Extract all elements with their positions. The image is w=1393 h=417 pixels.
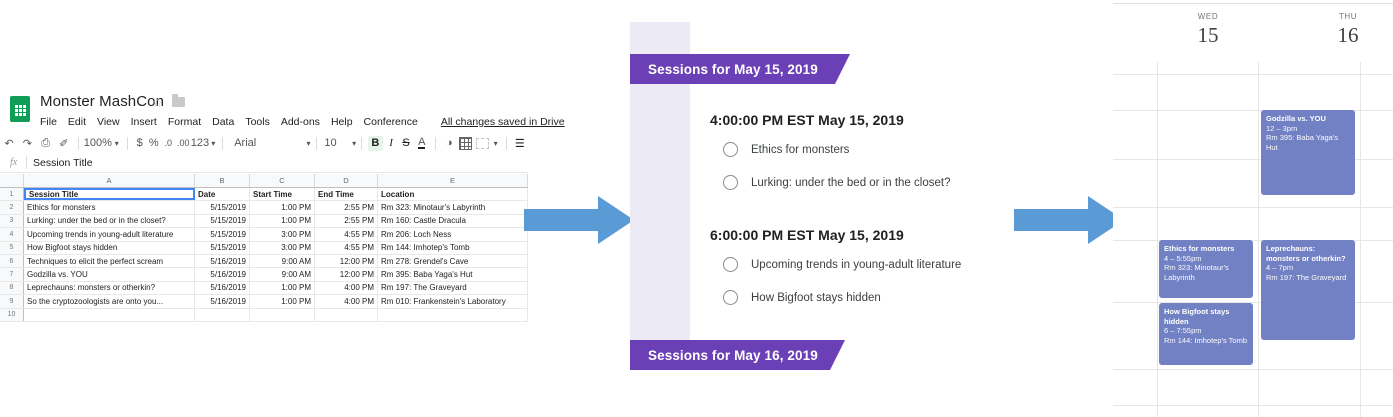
text-color-button[interactable]: A [418,137,425,149]
cell-end-time[interactable]: 12:00 PM [315,255,378,267]
row-number[interactable]: 7 [0,268,24,280]
sheets-toolbar: ↶ ↷ ⎙ ✐ 100% ▾ $ % .0 .00 123 ▾ Arial ▾ … [0,132,528,154]
form-option[interactable]: How Bigfoot stays hidden [710,290,961,305]
cell-start-time[interactable]: 1:00 PM [250,215,315,227]
form-question-group-4pm: 4:00:00 PM EST May 15, 2019 Ethics for m… [710,112,950,208]
cell-date[interactable]: 5/16/2019 [195,282,250,294]
cell-location[interactable]: Rm 206: Loch Ness [378,228,528,240]
cell-end-time[interactable]: 2:55 PM [315,215,378,227]
table-row[interactable]: 8Leprechauns: monsters or otherkin?5/16/… [0,282,528,295]
cell-start-time-header[interactable]: Start Time [250,188,315,200]
menu-item-insert[interactable]: Insert [131,116,157,128]
toolbar-divider [361,137,362,150]
row-number[interactable]: 6 [0,255,24,267]
cell-start-time[interactable]: 3:00 PM [250,242,315,254]
increase-decimal-button[interactable]: .00 [176,134,191,152]
row-number[interactable]: 5 [0,242,24,254]
flow-arrow-sheets-to-form [524,196,634,244]
cell-end-time[interactable]: 12:00 PM [315,268,378,280]
cell-empty[interactable] [250,309,315,321]
table-row[interactable]: 5How Bigfoot stays hidden5/15/20193:00 P… [0,242,528,255]
fill-color-icon[interactable]: ◑ [441,134,458,152]
event-location: Rm 197: The Graveyard [1266,273,1350,283]
cell-session-title[interactable]: Techniques to elicit the perfect scream [24,255,195,267]
cell-session-title[interactable]: Lurking: under the bed or in the closet? [24,215,195,227]
row-number[interactable]: 4 [0,228,24,240]
arrow-shaft [524,209,600,231]
form-section-title: Sessions for May 16, 2019 [630,348,818,363]
calendar-event[interactable]: Ethics for monsters 4 – 5:55pm Rm 323: M… [1159,240,1253,298]
table-row[interactable]: 10 [0,309,528,322]
table-row[interactable]: 4Upcoming trends in young-adult literatu… [0,228,528,241]
table-row[interactable]: 6Techniques to elicit the perfect scream… [0,255,528,268]
calendar-day-header-wed[interactable]: WED 15 [1158,12,1258,48]
table-row[interactable]: 9So the cryptozoologists are onto you...… [0,295,528,308]
toolbar-divider [222,137,223,150]
arrow-shaft [1014,209,1090,231]
cell-start-time[interactable]: 1:00 PM [250,201,315,213]
calendar-day-divider [1157,62,1158,417]
form-option-label[interactable]: Lurking: under the bed or in the closet? [751,177,950,189]
cell-start-time[interactable]: 1:00 PM [250,295,315,307]
cell-end-time[interactable]: 4:55 PM [315,228,378,240]
cell-location[interactable]: Rm 197: The Graveyard [378,282,528,294]
toolbar-divider [78,137,79,150]
form-section-header-may-16: Sessions for May 16, 2019 [630,340,830,370]
cell-location[interactable]: Rm 010: Frankenstein's Laboratory [378,295,528,307]
event-time: 4 – 7pm [1266,263,1350,273]
form-option-label[interactable]: Ethics for monsters [751,144,849,156]
cell-empty[interactable] [24,309,195,321]
borders-icon[interactable] [459,137,472,150]
cell-location[interactable]: Rm 160: Castle Dracula [378,215,528,227]
font-name-select[interactable]: Arial [228,134,272,152]
form-option-label[interactable]: How Bigfoot stays hidden [751,292,881,304]
calendar-top-divider [1113,3,1393,4]
cell-session-title[interactable]: Ethics for monsters [24,201,195,213]
sheets-titlebar: Monster MashCon ☆ File Edit View Insert … [0,92,528,136]
menu-item-tools[interactable]: Tools [245,116,270,128]
event-time: 12 – 3pm [1266,124,1350,134]
menu-item-data[interactable]: Data [212,116,234,128]
formula-divider [26,156,27,169]
save-status-link[interactable]: All changes saved in Drive [441,116,565,128]
google-calendar-window: WED 15 THU 16 Godzilla vs. YOU 12 – 3pm … [1113,0,1393,417]
spreadsheet-data-rows: 2Ethics for monsters5/15/20191:00 PM2:55… [0,201,528,308]
menu-item-view[interactable]: View [97,116,120,128]
form-question-title: 4:00:00 PM EST May 15, 2019 [710,112,950,128]
google-sheets-window: Monster MashCon ☆ File Edit View Insert … [0,92,528,317]
cell-date[interactable]: 5/15/2019 [195,242,250,254]
form-option[interactable]: Lurking: under the bed or in the closet? [710,175,950,190]
cell-date[interactable]: 5/15/2019 [195,228,250,240]
column-header-a[interactable]: A [24,174,195,187]
cell-start-time[interactable]: 9:00 AM [250,268,315,280]
bold-button[interactable]: B [368,136,383,151]
event-location: Rm 395: Baba Yaga's Hut [1266,133,1350,152]
form-option[interactable]: Upcoming trends in young-adult literatur… [710,257,961,272]
paint-format-icon[interactable]: ✐ [55,134,73,152]
radio-button-icon[interactable] [723,142,738,157]
menu-item-edit[interactable]: Edit [68,116,86,128]
form-section-title: Sessions for May 15, 2019 [630,62,818,77]
cell-location[interactable]: Rm 323: Minotaur's Labyrinth [378,201,528,213]
day-number-label: 16 [1298,23,1393,48]
cell-end-time[interactable]: 4:00 PM [315,282,378,294]
cell-location[interactable]: Rm 278: Grendel's Cave [378,255,528,267]
formula-bar[interactable]: fx Session Title [0,155,528,173]
row-number[interactable]: 9 [0,295,24,307]
zoom-caret-icon[interactable]: ▾ [112,134,122,152]
column-header-b[interactable]: B [195,174,250,187]
event-title: Ethics for monsters [1164,244,1248,254]
calendar-hour-line [1113,369,1393,370]
calendar-event[interactable]: Leprechauns: monsters or otherkin? 4 – 7… [1261,240,1355,340]
column-header-e[interactable]: E [378,174,528,187]
event-title: Godzilla vs. YOU [1266,114,1350,124]
cell-date[interactable]: 5/16/2019 [195,255,250,267]
cell-empty[interactable] [195,309,250,321]
event-location: Rm 323: Minotaur's Labyrinth [1164,263,1248,282]
calendar-hour-line [1113,74,1393,75]
undo-icon[interactable]: ↶ [0,134,18,152]
column-header-row: A B C D E [0,174,528,188]
calendar-day-divider [1258,62,1259,417]
cell-date[interactable]: 5/16/2019 [195,268,250,280]
form-question-group-6pm: 6:00:00 PM EST May 15, 2019 Upcoming tre… [710,227,961,323]
cell-session-title-header[interactable]: Session Title [24,188,195,200]
event-title: How Bigfoot stays hidden [1164,307,1248,326]
cell-location[interactable]: Rm 395: Baba Yaga's Hut [378,268,528,280]
row-number[interactable]: 8 [0,282,24,294]
cell-start-time[interactable]: 3:00 PM [250,228,315,240]
print-icon[interactable]: ⎙ [37,134,55,152]
event-time: 4 – 5:55pm [1164,254,1248,264]
calendar-hour-line [1113,207,1393,208]
document-title[interactable]: Monster MashCon [40,93,164,110]
decrease-decimal-button[interactable]: .0 [161,134,176,152]
day-number-label: 15 [1158,23,1258,48]
calendar-day-header-thu[interactable]: THU 16 [1298,12,1393,48]
calendar-event[interactable]: How Bigfoot stays hidden 6 – 7:55pm Rm 1… [1159,303,1253,365]
number-format-caret-icon[interactable]: ▾ [209,134,217,152]
cell-date[interactable]: 5/15/2019 [195,215,250,227]
redo-icon[interactable]: ↷ [18,134,36,152]
day-of-week-label: WED [1158,12,1258,21]
column-header-d[interactable]: D [315,174,378,187]
cell-location[interactable]: Rm 144: Imhotep's Tomb [378,242,528,254]
menu-item-help[interactable]: Help [331,116,353,128]
calendar-hour-line [1113,405,1393,406]
star-icon[interactable]: ☆ [152,96,163,110]
select-all-corner[interactable] [0,174,24,187]
cell-session-title[interactable]: How Bigfoot stays hidden [24,242,195,254]
event-title: Leprechauns: monsters or otherkin? [1266,244,1350,263]
row-number[interactable]: 1 [0,188,24,200]
menu-item-format[interactable]: Format [168,116,201,128]
day-of-week-label: THU [1298,12,1393,21]
fx-icon: fx [10,157,17,168]
folder-icon[interactable] [172,97,185,107]
table-row[interactable]: 2Ethics for monsters5/15/20191:00 PM2:55… [0,201,528,214]
cell-end-time[interactable]: 4:00 PM [315,295,378,307]
row-number[interactable]: 2 [0,201,24,213]
form-option[interactable]: Ethics for monsters [710,142,950,157]
align-icon[interactable]: ☰ [511,134,528,152]
font-size-select[interactable]: 10 [321,134,339,152]
google-sheets-icon [10,96,30,122]
cell-empty[interactable] [315,309,378,321]
cell-end-time[interactable]: 2:55 PM [315,201,378,213]
italic-button[interactable]: I [384,134,399,152]
calendar-day-divider [1360,62,1361,417]
table-row[interactable]: 3Lurking: under the bed or in the closet… [0,215,528,228]
cell-session-title[interactable]: Godzilla vs. YOU [24,268,195,280]
currency-format-button[interactable]: $ [133,134,147,152]
cell-session-title[interactable]: Upcoming trends in young-adult literatur… [24,228,195,240]
toolbar-divider [506,137,507,150]
table-row[interactable]: 1 Session Title Date Start Time End Time… [0,188,528,201]
column-header-c[interactable]: C [250,174,315,187]
event-time: 6 – 7:55pm [1164,326,1248,336]
cell-end-time-header[interactable]: End Time [315,188,378,200]
cell-date-header[interactable]: Date [195,188,250,200]
strikethrough-button[interactable]: S [399,134,414,152]
cell-session-title[interactable]: So the cryptozoologists are onto you... [24,295,195,307]
menu-item-conference[interactable]: Conference [364,116,418,128]
cell-end-time[interactable]: 4:55 PM [315,242,378,254]
zoom-level[interactable]: 100% [84,134,112,152]
font-name-caret-icon[interactable]: ▾ [272,134,310,152]
radio-button-icon[interactable] [723,290,738,305]
toolbar-divider [127,137,128,150]
row-number[interactable]: 10 [0,309,24,321]
arrow-head [598,196,634,244]
font-size-caret-icon[interactable]: ▾ [340,134,357,152]
form-option-label[interactable]: Upcoming trends in young-adult literatur… [751,259,961,271]
cell-session-title[interactable]: Leprechauns: monsters or otherkin? [24,282,195,294]
cell-start-time[interactable]: 9:00 AM [250,255,315,267]
menu-item-file[interactable]: File [40,116,57,128]
number-format-button[interactable]: 123 [191,134,209,152]
calendar-event[interactable]: Godzilla vs. YOU 12 – 3pm Rm 395: Baba Y… [1261,110,1355,195]
cell-location-header[interactable]: Location [378,188,528,200]
cell-date[interactable]: 5/15/2019 [195,201,250,213]
percent-format-button[interactable]: % [147,134,161,152]
spreadsheet-grid[interactable]: A B C D E 1 Session Title Date Start Tim… [0,174,528,322]
table-row[interactable]: 7Godzilla vs. YOU5/16/20199:00 AM12:00 P… [0,268,528,281]
toolbar-divider [316,137,317,150]
menu-bar: File Edit View Insert Format Data Tools … [40,116,565,128]
event-location: Rm 144: Imhotep's Tomb [1164,336,1248,346]
formula-value[interactable]: Session Title [33,157,93,169]
cell-empty[interactable] [378,309,528,321]
merge-caret-icon[interactable]: ▾ [491,134,501,152]
form-question-title: 6:00:00 PM EST May 15, 2019 [710,227,961,243]
form-section-header-may-15: Sessions for May 15, 2019 [630,54,835,84]
merge-cells-icon[interactable] [476,138,489,149]
cell-date[interactable]: 5/16/2019 [195,295,250,307]
flow-arrow-form-to-calendar [1014,196,1124,244]
radio-button-icon[interactable] [723,175,738,190]
google-form-window: Sessions for May 15, 2019 4:00:00 PM EST… [630,22,930,372]
cell-start-time[interactable]: 1:00 PM [250,282,315,294]
radio-button-icon[interactable] [723,257,738,272]
row-number[interactable]: 3 [0,215,24,227]
toolbar-divider [435,137,436,150]
menu-item-addons[interactable]: Add-ons [281,116,320,128]
